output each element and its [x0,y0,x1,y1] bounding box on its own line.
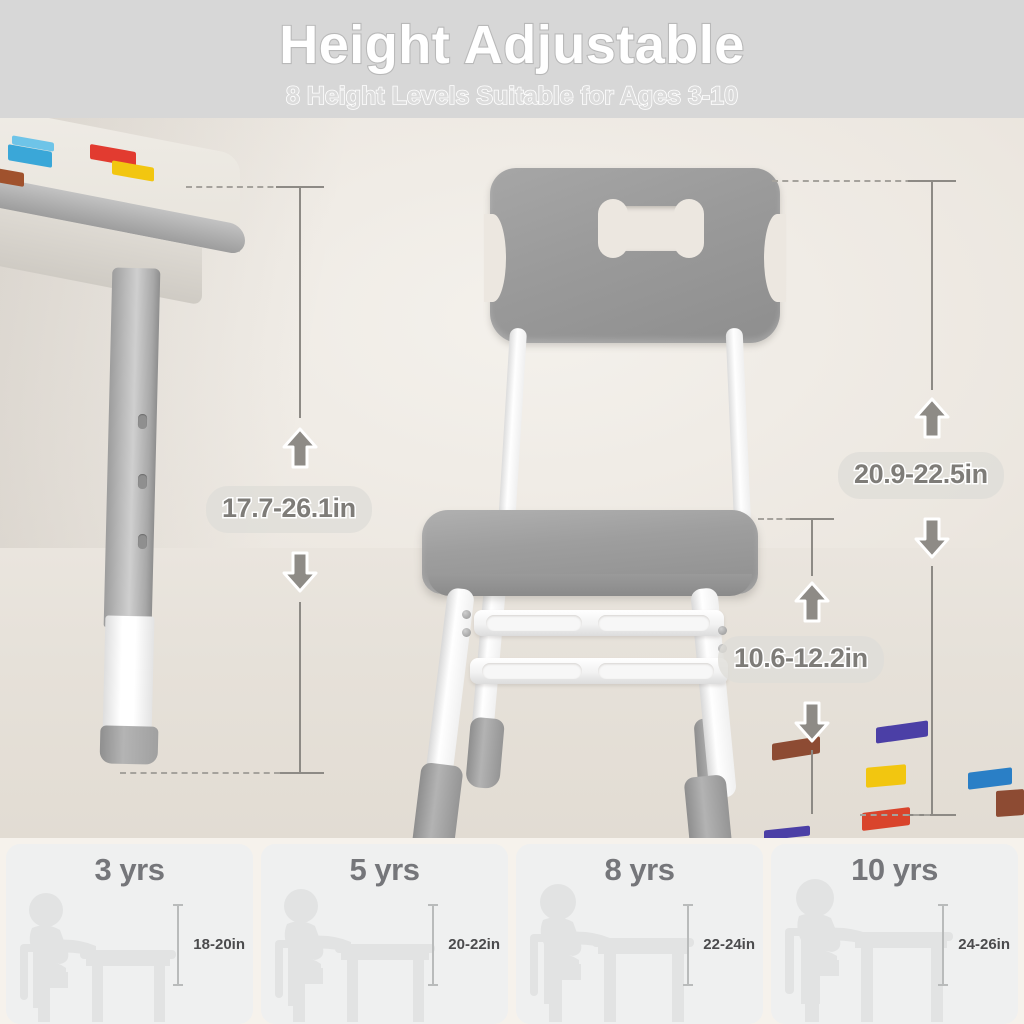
chair-foot-back-left [465,717,505,790]
arrow-up-icon [793,580,831,624]
page-title: Height Adjustable [0,14,1024,76]
chair-foot-front-left [410,762,463,840]
dim-line-seat-upper [811,518,813,576]
table-leg-upper [104,267,161,628]
dim-cap-bottom [276,772,324,774]
chair-backrest-handle-cutout [600,206,702,251]
toy-block-floor [866,764,906,787]
arrow-down-icon [281,550,319,594]
product-infographic: Height Adjustable 8 Height Levels Suitab… [0,0,1024,1024]
chair-screw [462,628,471,637]
age-card-title: 3 yrs [6,852,253,888]
dim-line-seat-lower [811,750,813,814]
age-card-height: 24-26in [958,936,1010,953]
dim-line-chair-upper [931,180,933,390]
age-card[interactable]: 5 yrs 20-22in [261,844,508,1024]
table-leg-foot-cap [100,725,159,764]
table-leg-hole [138,474,147,489]
chair-crossbar-lower [470,658,728,684]
table-leg-lower-white [103,615,155,736]
leader-line-table-floor [120,772,280,774]
table-leg-hole [138,414,147,429]
arrow-up-icon [913,396,951,440]
child-at-desk-silhouette [524,880,710,1024]
chair-crossbar-upper [474,610,724,636]
card-dim-bracket [687,904,689,986]
dim-line-table-lower [299,602,301,774]
chair-back-post-left [498,328,527,529]
arrow-down-icon [913,516,951,560]
chair-screw [462,610,471,619]
product-photo-scene: 17.7-26.1in 20.9-22.5in 10.6-12.2in [0,118,1024,840]
chair-screw [718,626,727,635]
arrow-up-icon [281,426,319,470]
kids-chair [400,158,780,838]
dim-line-chair-lower [931,566,933,816]
dim-line-table-upper [299,186,301,418]
kids-table [0,118,290,818]
age-comparison-row: 3 yrs 18-20in [0,838,1024,1024]
chair-backrest [490,168,780,343]
age-card[interactable]: 3 yrs 18-20in [6,844,253,1024]
table-leg-hole [138,534,147,549]
card-dim-bracket [177,904,179,986]
arrow-down-icon [793,700,831,744]
leader-line-chair-floor [860,814,930,816]
card-dim-bracket [942,904,944,986]
age-card-height: 20-22in [448,936,500,953]
age-card-height: 18-20in [193,936,245,953]
age-card[interactable]: 10 yrs 24-26in [771,844,1018,1024]
dim-label-table-height: 17.7-26.1in [206,486,372,533]
dim-label-seat-height: 10.6-12.2in [718,636,884,683]
card-dim-bracket [432,904,434,986]
chair-back-post-right [726,328,752,534]
dim-label-chair-height: 20.9-22.5in [838,452,1004,499]
child-at-desk-silhouette [779,878,965,1024]
toy-block-floor [996,789,1024,817]
age-card-height: 22-24in [703,936,755,953]
age-card[interactable]: 8 yrs 22-24in [516,844,763,1024]
